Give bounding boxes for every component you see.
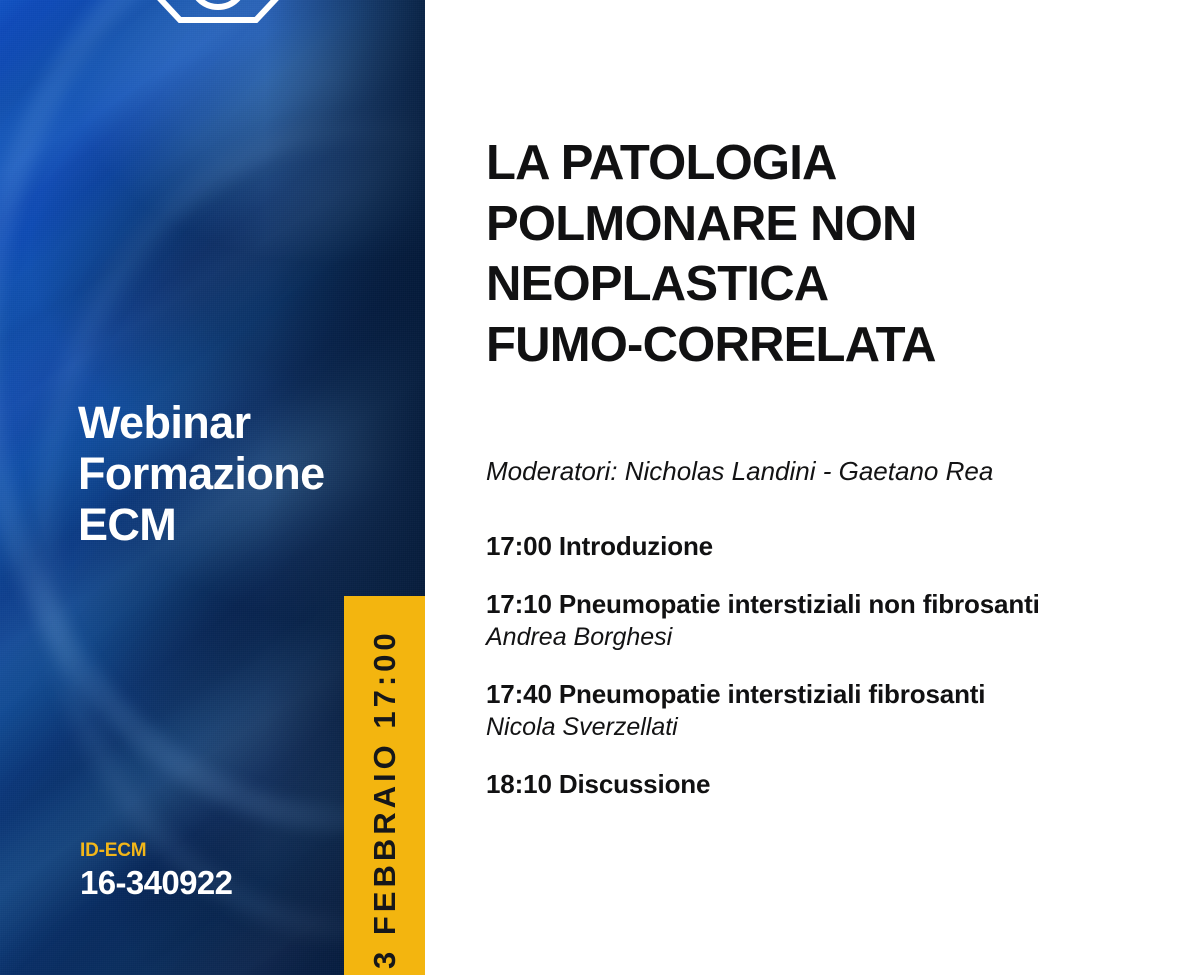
program-item-heading: 17:40 Pneumopatie interstiziali fibrosan… bbox=[486, 679, 1186, 711]
webinar-heading-line-3: ECM bbox=[78, 500, 325, 551]
program-item: 17:40 Pneumopatie interstiziali fibrosan… bbox=[486, 679, 1186, 742]
page-title-line-4: FUMO-CORRELATA bbox=[486, 315, 1146, 376]
program-item-heading: 17:00 Introduzione bbox=[486, 531, 1186, 563]
program-item-heading: 18:10 Discussione bbox=[486, 769, 1186, 801]
webinar-heading-line-2: Formazione bbox=[78, 449, 325, 500]
program-item: 18:10 Discussione bbox=[486, 769, 1186, 801]
id-ecm-label: ID-ECM bbox=[80, 841, 232, 862]
webinar-poster: Webinar Formazione ECM ID-ECM 16-340922 … bbox=[0, 0, 1200, 975]
id-ecm-value: 16-340922 bbox=[80, 864, 232, 902]
webinar-heading: Webinar Formazione ECM bbox=[78, 398, 325, 551]
date-time-strip: 3 FEBBRAIO 17:00 bbox=[344, 596, 425, 975]
page-title-line-3: NEOPLASTICA bbox=[486, 254, 1146, 315]
hexagon-outline-logo-icon bbox=[143, 0, 293, 28]
program-item-speaker: Andrea Borghesi bbox=[486, 622, 1186, 652]
page-title-line-2: POLMONARE NON bbox=[486, 194, 1146, 255]
program-item-speaker: Nicola Sverzellati bbox=[486, 712, 1186, 742]
id-ecm-block: ID-ECM 16-340922 bbox=[80, 841, 232, 902]
program-item: 17:00 Introduzione bbox=[486, 531, 1186, 563]
program-list: Moderatori: Nicholas Landini - Gaetano R… bbox=[486, 455, 1186, 800]
date-time-strip-inner: 3 FEBBRAIO 17:00 bbox=[344, 596, 425, 975]
moderators-line: Moderatori: Nicholas Landini - Gaetano R… bbox=[486, 455, 1186, 488]
page-title-line-1: LA PATOLOGIA bbox=[486, 133, 1146, 194]
right-content-panel: LA PATOLOGIA POLMONARE NON NEOPLASTICA F… bbox=[425, 0, 1200, 975]
program-item-heading: 17:10 Pneumopatie interstiziali non fibr… bbox=[486, 589, 1186, 621]
date-time-label: 3 FEBBRAIO 17:00 bbox=[369, 629, 400, 969]
page-title: LA PATOLOGIA POLMONARE NON NEOPLASTICA F… bbox=[486, 133, 1146, 376]
program-item: 17:10 Pneumopatie interstiziali non fibr… bbox=[486, 589, 1186, 652]
webinar-heading-line-1: Webinar bbox=[78, 398, 325, 449]
